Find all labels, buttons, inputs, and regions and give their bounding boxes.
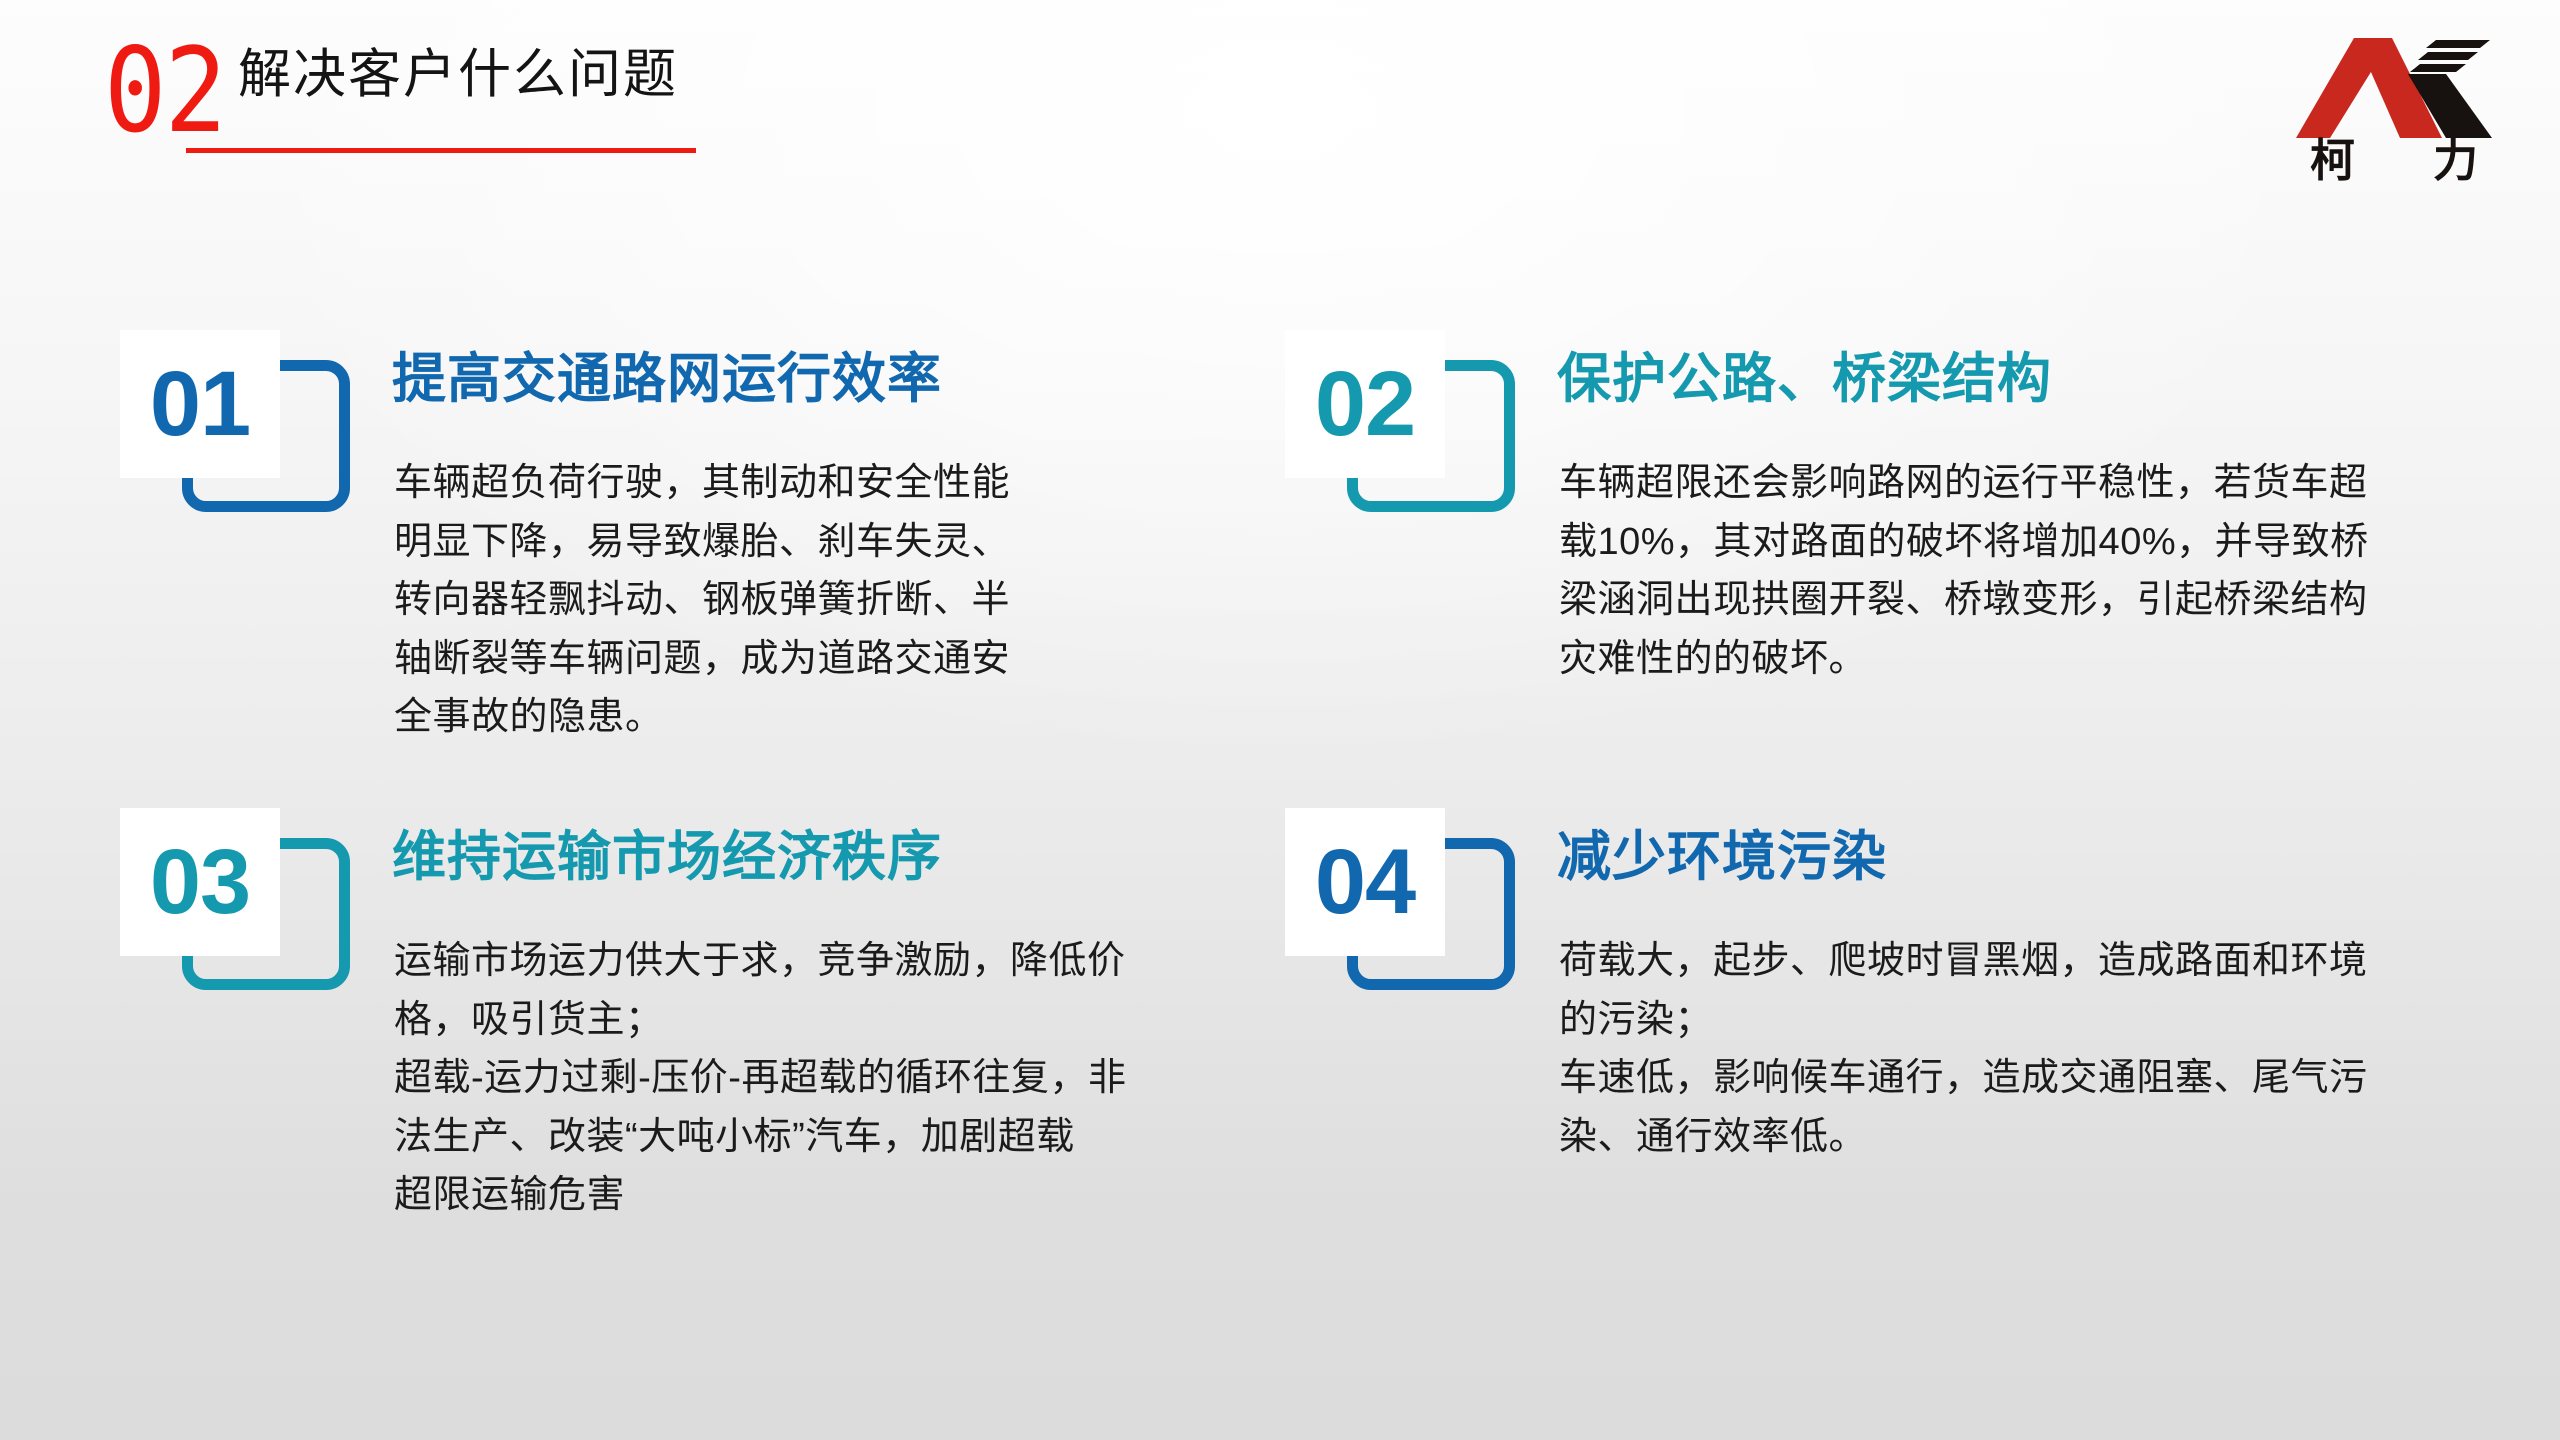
- page-title: 解决客户什么问题: [238, 48, 678, 101]
- card-body: 车辆超负荷行驶，其制动和安全性能 明显下降，易导致爆胎、刹车失灵、 转向器轻飘抖…: [394, 454, 1224, 747]
- brand-logo: 柯 力: [2296, 34, 2492, 182]
- badge-number: 03: [120, 808, 280, 956]
- card-badge-01: 01: [120, 330, 310, 485]
- card-title: 维持运输市场经济秩序: [392, 830, 942, 884]
- card-title: 减少环境污染: [1557, 830, 1887, 884]
- card-badge-03: 03: [120, 808, 310, 963]
- header-underline: [186, 148, 696, 153]
- card-title: 提高交通路网运行效率: [392, 352, 942, 406]
- logo-char-right: 力: [2433, 138, 2478, 183]
- slide-header: 02 解决客户什么问题: [0, 0, 2560, 200]
- logo-char-left: 柯: [2310, 138, 2355, 183]
- badge-number: 01: [120, 330, 280, 478]
- card-badge-02: 02: [1285, 330, 1475, 485]
- card-body: 荷载大，起步、爬坡时冒黑烟，造成路面和环境 的污染； 车速低，影响候车通行，造成…: [1559, 932, 2479, 1166]
- badge-number: 02: [1285, 330, 1445, 478]
- card-body: 车辆超限还会影响路网的运行平稳性，若货车超 载10%，其对路面的破坏将增加40%…: [1559, 454, 2479, 688]
- keli-k-mark-icon: [2296, 34, 2492, 146]
- badge-number: 04: [1285, 808, 1445, 956]
- card-title: 保护公路、桥梁结构: [1557, 352, 2052, 406]
- logo-wordmark: 柯 力: [2296, 138, 2492, 183]
- slide-root: 02 解决客户什么问题 柯 力 01 提高交通路网运行效率 车辆超负荷行驶，其制…: [0, 0, 2560, 1440]
- card-badge-04: 04: [1285, 808, 1475, 963]
- header-section-number: 02: [104, 34, 225, 151]
- card-body: 运输市场运力供大于求，竞争激励，降低价 格，吸引货主； 超载-运力过剩-压价-再…: [394, 932, 1224, 1225]
